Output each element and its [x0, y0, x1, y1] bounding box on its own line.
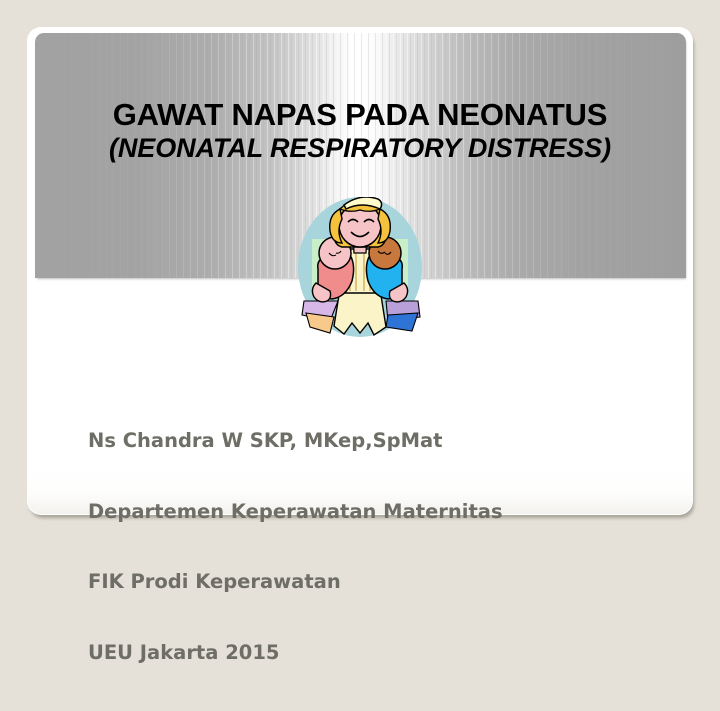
nurse-with-two-babies-clipart	[294, 197, 426, 339]
author-affiliation-block: Ns Chandra W SKP, MKep,SpMat Departemen …	[88, 382, 503, 711]
author-line-name: Ns Chandra W SKP, MKep,SpMat	[88, 429, 503, 453]
clipart-floor-blue-right	[386, 313, 418, 331]
title-line-primary: GAWAT NAPAS PADA NEONATUS	[0, 99, 720, 130]
author-line-department: Departemen Keperawatan Maternitas	[88, 500, 503, 524]
author-line-institution-year: UEU Jakarta 2015	[88, 641, 503, 665]
slide-title: GAWAT NAPAS PADA NEONATUS (NEONATAL RESP…	[0, 99, 720, 162]
clipart-floor-peach	[306, 313, 334, 333]
presentation-slide: GAWAT NAPAS PADA NEONATUS (NEONATAL RESP…	[0, 0, 720, 540]
author-line-faculty: FIK Prodi Keperawatan	[88, 570, 503, 594]
title-line-secondary: (NEONATAL RESPIRATORY DISTRESS)	[0, 135, 720, 162]
